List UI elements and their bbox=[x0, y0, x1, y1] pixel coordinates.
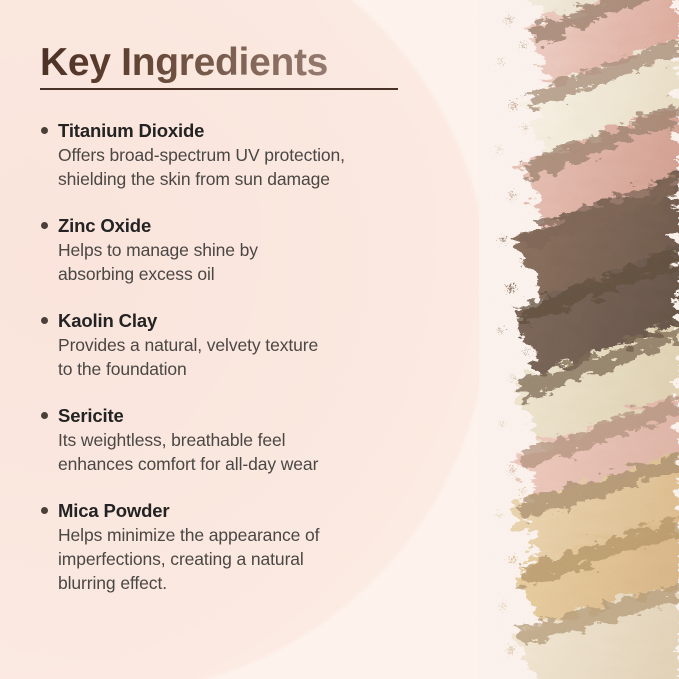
title-underline bbox=[40, 88, 398, 90]
list-item: Sericite Its weightless, breathable feel… bbox=[37, 403, 447, 476]
powder-swatch-image bbox=[479, 0, 679, 679]
list-item: Titanium Dioxide Offers broad-spectrum U… bbox=[37, 118, 447, 191]
ingredient-name: Sericite bbox=[58, 403, 447, 428]
list-item: Mica Powder Helps minimize the appearanc… bbox=[37, 498, 447, 595]
bullet-icon bbox=[41, 317, 48, 324]
ingredient-description: Provides a natural, velvety texture to t… bbox=[58, 333, 447, 381]
bullet-icon bbox=[41, 127, 48, 134]
ingredient-name: Zinc Oxide bbox=[58, 213, 447, 238]
ingredient-description: Offers broad-spectrum UV protection, shi… bbox=[58, 143, 447, 191]
title-block: Key Ingredients bbox=[40, 38, 440, 88]
content-column: Key Ingredients Titanium Dioxide Offers … bbox=[0, 0, 470, 679]
page-title: Key Ingredients bbox=[40, 38, 440, 88]
bullet-icon bbox=[41, 412, 48, 419]
list-item: Zinc Oxide Helps to manage shine by abso… bbox=[37, 213, 447, 286]
ingredient-name: Titanium Dioxide bbox=[58, 118, 447, 143]
ingredients-infographic: Key Ingredients Titanium Dioxide Offers … bbox=[0, 0, 679, 679]
ingredient-description: Helps minimize the appearance of imperfe… bbox=[58, 523, 447, 595]
ingredient-name: Kaolin Clay bbox=[58, 308, 447, 333]
ingredient-description: Helps to manage shine by absorbing exces… bbox=[58, 238, 447, 286]
list-item: Kaolin Clay Provides a natural, velvety … bbox=[37, 308, 447, 381]
ingredient-description: Its weightless, breathable feel enhances… bbox=[58, 428, 447, 476]
bullet-icon bbox=[41, 222, 48, 229]
ingredients-list: Titanium Dioxide Offers broad-spectrum U… bbox=[37, 118, 447, 595]
bullet-icon bbox=[41, 507, 48, 514]
ingredient-name: Mica Powder bbox=[58, 498, 447, 523]
